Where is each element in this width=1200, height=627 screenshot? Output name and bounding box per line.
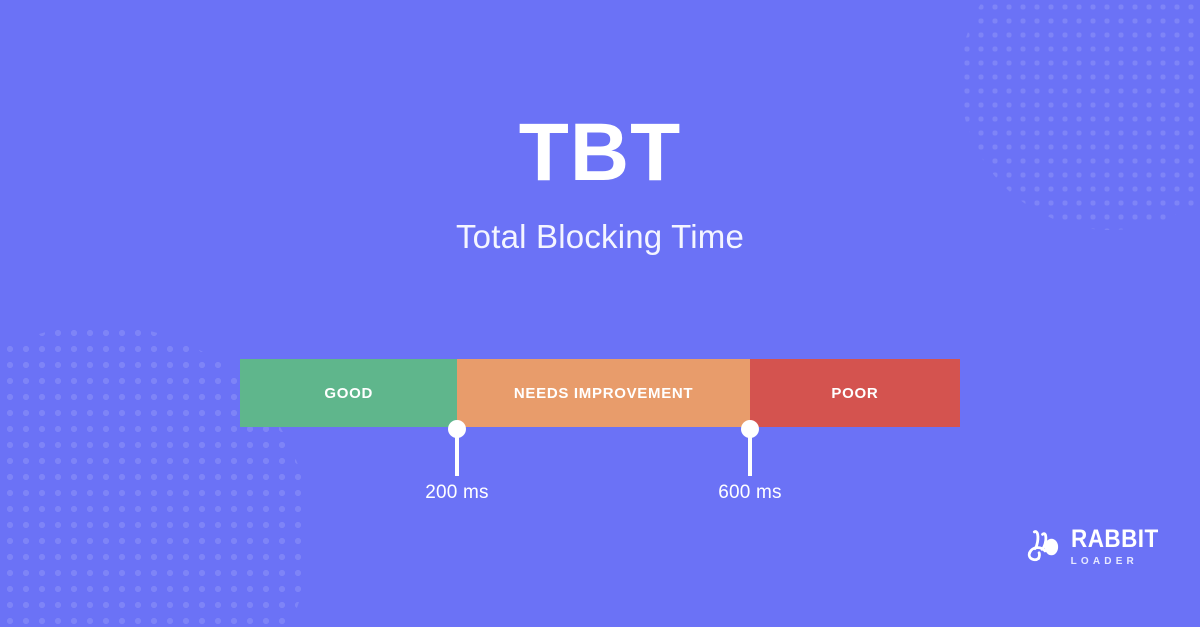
bar-segment-poor: POOR bbox=[750, 359, 960, 427]
brand-subtext: LOADER bbox=[1071, 557, 1168, 567]
threshold-marker-stem bbox=[748, 436, 752, 476]
brand-name: RABBIT bbox=[1071, 527, 1159, 552]
bar-segment-poor-label: POOR bbox=[831, 385, 878, 402]
bar-segment-needs-improvement-label: NEEDS IMPROVEMENT bbox=[514, 385, 693, 402]
page-title: TBT bbox=[0, 110, 1200, 196]
rabbit-icon bbox=[1022, 529, 1062, 565]
bar-segment-good-label: GOOD bbox=[324, 385, 373, 402]
threshold-bar: GOOD NEEDS IMPROVEMENT POOR bbox=[240, 359, 960, 427]
brand-logo-text: RABBIT LOADER bbox=[1071, 527, 1168, 567]
bar-segment-needs-improvement: NEEDS IMPROVEMENT bbox=[457, 359, 749, 427]
bar-segment-good: GOOD bbox=[240, 359, 457, 427]
threshold-marker-stem bbox=[455, 436, 459, 476]
brand-logo: RABBIT LOADER bbox=[1022, 527, 1168, 567]
threshold-marker-600ms-label: 600 ms bbox=[718, 482, 782, 504]
threshold-marker-200ms-label: 200 ms bbox=[425, 482, 489, 504]
page-subtitle: Total Blocking Time bbox=[0, 218, 1200, 256]
tbt-infographic-page: { "background": { "color": "#6b72f6", "d… bbox=[0, 0, 1200, 627]
heading-block: TBT Total Blocking Time bbox=[0, 110, 1200, 256]
